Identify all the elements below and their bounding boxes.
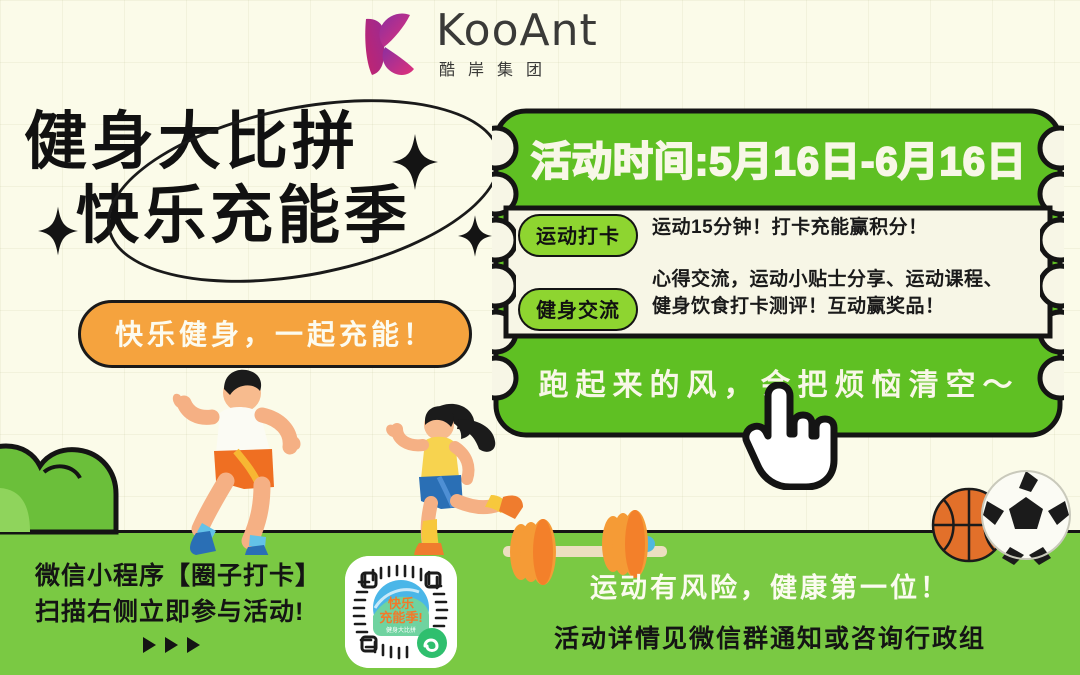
wechat-miniprogram-badge-icon <box>417 628 447 658</box>
activity-desc-line: 运动15分钟！打卡充能赢积分！ <box>652 214 928 242</box>
qr-center-line-3: 健身大比拼 <box>386 626 416 634</box>
sparkle-icon <box>38 206 78 256</box>
activity-desc-line: 心得交流，运动小贴士分享、运动课程、 <box>652 266 1003 294</box>
footer-right-line-1: 运动有风险，健康第一位！ <box>470 566 1070 605</box>
kooant-k-logo-icon <box>360 9 422 79</box>
activity-desc-line: 健身饮食打卡测评！互动赢奖品！ <box>652 293 1003 321</box>
event-time-banner: 活动时间:5月16日-6月16日 <box>514 116 1044 200</box>
qr-center-line-2: 充能季! <box>379 610 422 625</box>
event-time-text: 活动时间:5月16日-6月16日 <box>531 129 1027 187</box>
activity-tag[interactable]: 健身交流 <box>518 288 638 331</box>
sports-balls-group <box>925 465 1075 565</box>
footer-left-text: 微信小程序【圈子打卡】 扫描右侧立即参与活动! <box>35 558 355 653</box>
pointing-hand-cursor-icon <box>742 382 838 490</box>
footer-left-line-2: 扫描右侧立即参与活动! <box>35 594 355 630</box>
brand-logo: KooAnt 酷岸集团 <box>360 8 598 80</box>
activity-tag[interactable]: 运动打卡 <box>518 214 638 257</box>
activity-rows: 运动打卡 运动15分钟！打卡充能赢积分！ 健身交流 心得交流，运动小贴士分享、运… <box>518 216 1040 328</box>
brand-name-cn: 酷岸集团 <box>436 56 555 80</box>
title-line-2: 快乐充能季 <box>76 184 520 248</box>
running-man-icon <box>150 355 350 555</box>
triangle-arrow-icon <box>143 637 355 653</box>
qr-center-line-1: 快乐 <box>388 596 414 611</box>
activity-row: 运动打卡 运动15分钟！打卡充能赢积分！ <box>518 214 1040 257</box>
activity-row: 健身交流 心得交流，运动小贴士分享、运动课程、 健身饮食打卡测评！互动赢奖品！ <box>518 266 1040 331</box>
activity-description: 运动15分钟！打卡充能赢积分！ <box>652 214 928 242</box>
poster-canvas: KooAnt 酷岸集团 健身大比拼 快乐充能季 快乐健身，一起充能！ <box>0 0 1080 675</box>
activity-description: 心得交流，运动小贴士分享、运动课程、 健身饮食打卡测评！互动赢奖品！ <box>652 266 1003 321</box>
footer-right-text: 运动有风险，健康第一位！ 活动详情见微信群通知或咨询行政组 <box>470 566 1070 655</box>
wechat-miniprogram-qr-icon[interactable]: 快乐 充能季! 健身大比拼 <box>345 556 457 668</box>
footer-right-line-2: 活动详情见微信群通知或咨询行政组 <box>470 619 1070 655</box>
footer-left-line-1: 微信小程序【圈子打卡】 <box>35 558 355 594</box>
title-line-1: 健身大比拼 <box>24 110 520 174</box>
title-block: 健身大比拼 快乐充能季 快乐健身，一起充能！ <box>0 110 520 249</box>
brand-name-en: KooAnt <box>436 8 598 54</box>
